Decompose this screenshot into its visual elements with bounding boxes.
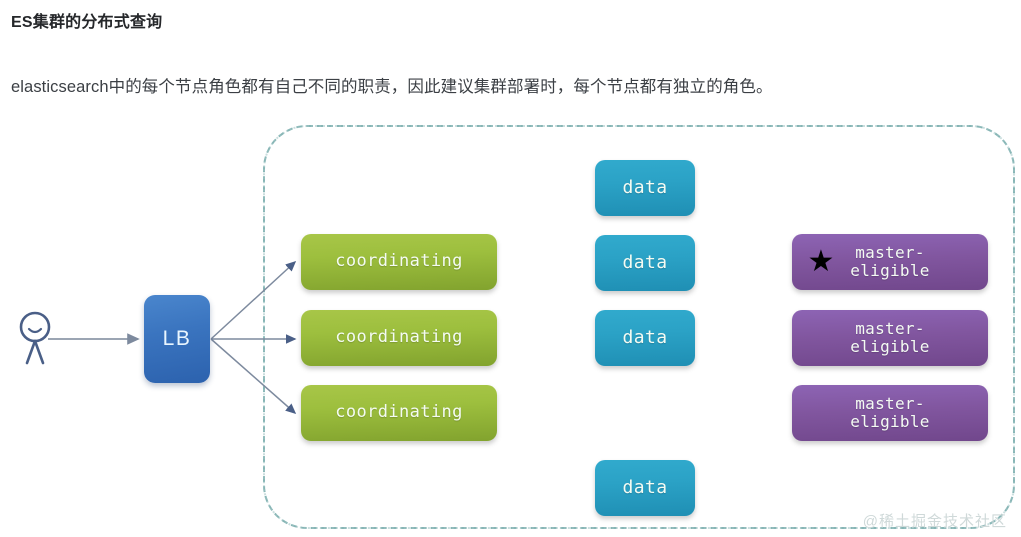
node-label-line1: master- [855,394,925,413]
node-label-line1: master- [855,319,925,338]
node-data-1[interactable]: data [595,160,695,216]
node-label: data [623,178,668,199]
node-label-line2: eligible [850,337,929,356]
node-load-balancer[interactable]: LB [144,295,210,383]
node-label: master- eligible [850,320,929,357]
node-master-eligible-3[interactable]: master- eligible [792,385,988,441]
node-data-2[interactable]: data [595,235,695,291]
node-label: coordinating [335,252,463,272]
node-label-line2: eligible [850,261,929,280]
node-label: LB [163,327,192,351]
node-label-line2: eligible [850,412,929,431]
node-label-line1: master- [855,243,925,262]
node-label: coordinating [335,328,463,348]
node-coordinating-1[interactable]: coordinating [301,234,497,290]
node-label: master- eligible [850,244,929,281]
watermark: @稀土掘金技术社区 [863,510,1007,531]
node-label: data [623,253,668,274]
node-master-eligible-1[interactable]: ★ master- eligible [792,234,988,290]
node-label: data [623,328,668,349]
page-title: ES集群的分布式查询 [11,8,162,32]
node-label: data [623,478,668,499]
node-label: coordinating [335,403,463,423]
node-data-3[interactable]: data [595,310,695,366]
article-paragraph: elasticsearch中的每个节点角色都有自己不同的职责，因此建议集群部署时… [11,73,773,97]
node-coordinating-3[interactable]: coordinating [301,385,497,441]
node-coordinating-2[interactable]: coordinating [301,310,497,366]
star-icon: ★ [806,247,836,277]
user-actor-icon [14,306,66,372]
cluster-diagram: LB coordinating coordinating coordinatin… [0,110,1021,537]
node-label: master- eligible [850,395,929,432]
node-data-4[interactable]: data [595,460,695,516]
node-master-eligible-2[interactable]: master- eligible [792,310,988,366]
